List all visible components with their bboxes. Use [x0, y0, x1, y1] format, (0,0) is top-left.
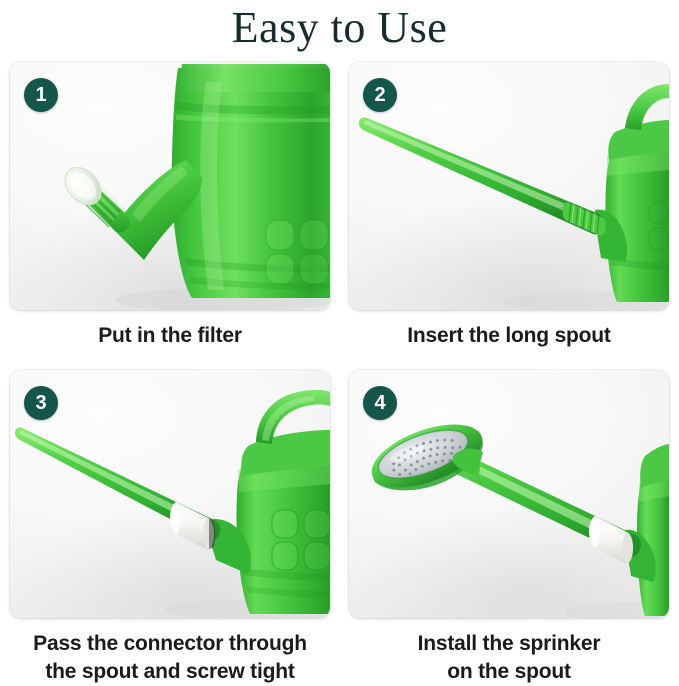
step-badge-2: 2: [363, 78, 397, 112]
step-caption-4: Install the sprinker on the spout: [349, 630, 669, 685]
steps-grid: 1 Put in the filter: [0, 62, 679, 686]
step-2-image-panel: 2: [349, 62, 669, 310]
watering-can-sprinkler-head-illustration: [349, 370, 669, 618]
step-caption-1: Put in the filter: [10, 322, 330, 350]
step-card-2: 2 Insert the long spout: [349, 62, 669, 350]
watering-can-body-illustration: [10, 62, 330, 310]
step-caption-3: Pass the connector through the spout and…: [10, 630, 330, 685]
easy-to-use-infographic: Easy to Use: [0, 0, 679, 686]
step-badge-3: 3: [24, 386, 58, 420]
step-1-image-panel: 1: [10, 62, 330, 310]
step-badge-1: 1: [24, 78, 58, 112]
step-card-3: 3 Pass the connector through the spout a…: [10, 370, 330, 685]
step-card-4: 4 Install the sprinker on the spout: [349, 370, 669, 685]
watering-can-long-spout-illustration: [349, 62, 669, 310]
watering-can-connector-ring-illustration: [10, 370, 330, 618]
step-caption-2: Insert the long spout: [349, 322, 669, 350]
step-card-1: 1 Put in the filter: [10, 62, 330, 350]
step-3-image-panel: 3: [10, 370, 330, 618]
page-title: Easy to Use: [0, 0, 679, 58]
step-badge-4: 4: [363, 386, 397, 420]
step-4-image-panel: 4: [349, 370, 669, 618]
